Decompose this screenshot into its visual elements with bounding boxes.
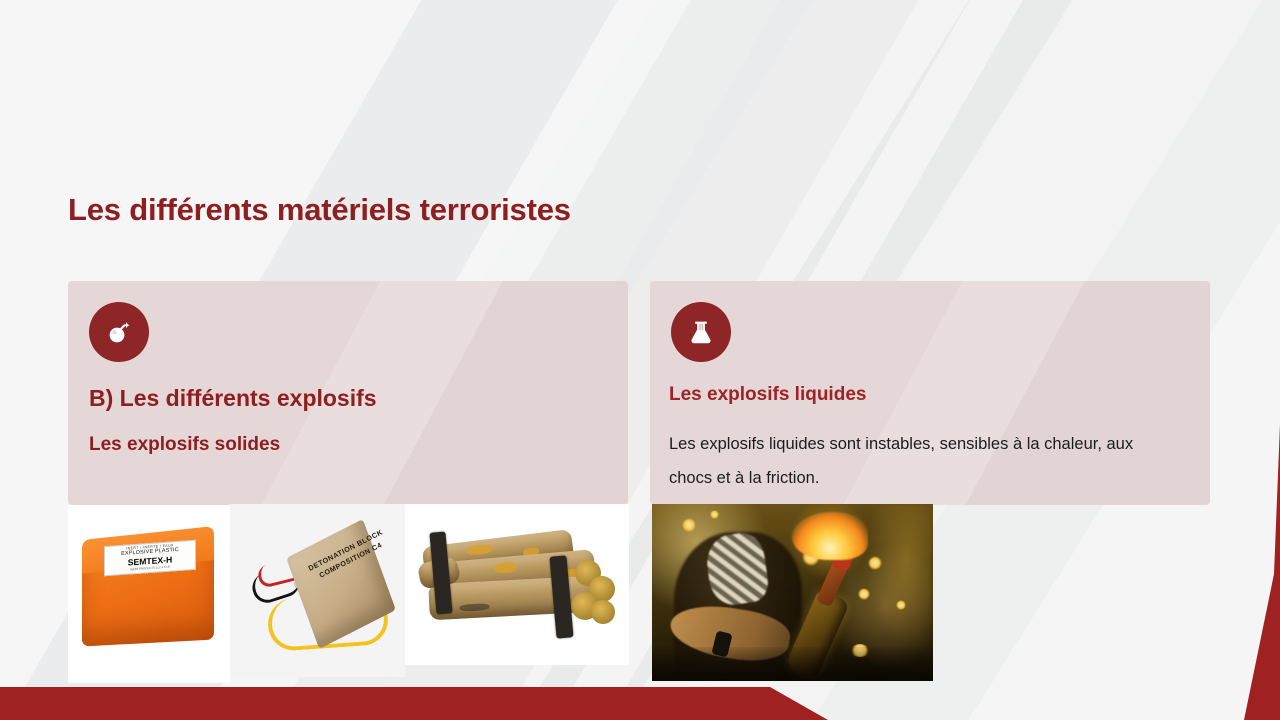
bokeh-light [858,588,870,600]
page-title: Les différents matériels terroristes [68,192,571,228]
card-heading: B) Les différents explosifs [89,385,377,412]
bottom-accent-bar [0,687,828,720]
card-explosifs-solides[interactable]: B) Les différents explosifs Les explosif… [68,281,628,505]
semtex-label-line4: INERT PRODUCTS LLC 4.5 LB [130,566,170,572]
ground-shadow [652,647,933,681]
flask-icon [671,302,731,362]
bokeh-light [682,518,696,532]
card-explosifs-liquides[interactable]: Les explosifs liquides Les explosifs liq… [650,281,1210,505]
bomb-icon [89,302,149,362]
bokeh-light [710,510,719,519]
card-subheading: Les explosifs solides [89,434,280,456]
bokeh-light [896,600,906,610]
card-heading: Les explosifs liquides [669,384,866,406]
dynamite-end-cap [591,600,615,624]
flame [792,512,868,560]
photo-dynamite-bundle[interactable] [405,504,629,665]
photo-c4-block[interactable]: DETONATION BLOCK COMPOSITION C4 [230,504,405,677]
photo-semtex[interactable]: INERT / INERTE / FAUX EXPLOSIVE PLASTIC … [68,505,230,683]
bokeh-light [868,556,882,570]
card-body-text: Les explosifs liquides sont instables, s… [669,427,1169,495]
slide-canvas: Les différents matériels terroristes B) … [0,0,1280,720]
photo-molotov-cocktail[interactable] [652,504,933,681]
